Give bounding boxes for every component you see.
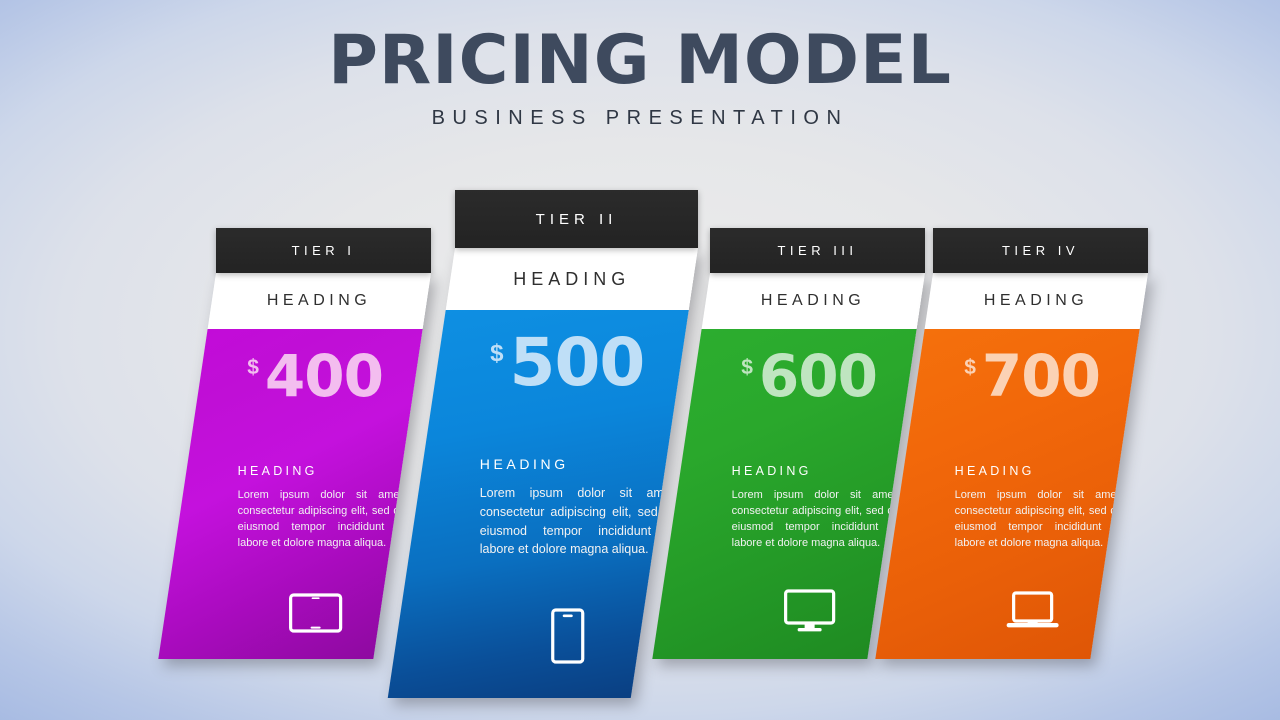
price-amount: 400 (265, 347, 383, 405)
tier-label-bar: TIER I (216, 228, 431, 273)
card-sub-heading: HEADING (732, 464, 900, 478)
tier-label: TIER III (777, 243, 857, 258)
card-heading-label: HEADING (761, 292, 865, 310)
card-sub-heading: HEADING (955, 464, 1123, 478)
card-description: Lorem ipsum dolor sit amet, consectetur … (480, 484, 678, 559)
device-icon-wrap (208, 593, 423, 633)
tablet-icon (288, 593, 342, 633)
pricing-card-tier-4[interactable]: TIER IV HEADING $ 700 HEADING Lorem ipsu… (933, 228, 1148, 659)
pricing-card-list: TIER I HEADING $ 400 HEADING Lorem ipsum… (0, 0, 1280, 720)
currency-symbol: $ (247, 357, 259, 378)
card-heading-bar: HEADING (702, 273, 925, 329)
card-text-block: HEADING Lorem ipsum dolor sit amet, cons… (732, 464, 900, 552)
card-description: Lorem ipsum dolor sit amet, consectetur … (238, 488, 406, 552)
smartphone-icon (550, 608, 584, 664)
card-body-wrapper: HEADING $ 400 HEADING Lorem ipsum dolor … (158, 273, 431, 659)
card-heading-bar: HEADING (208, 273, 431, 329)
price-amount: 500 (510, 330, 645, 396)
currency-symbol: $ (741, 357, 753, 378)
card-heading-label: HEADING (267, 292, 371, 310)
card-body-inner: $ 400 HEADING Lorem ipsum dolor sit amet… (208, 329, 423, 659)
tier-label: TIER IV (1002, 243, 1079, 258)
tier-label-bar: TIER IV (933, 228, 1148, 273)
currency-symbol: $ (964, 357, 976, 378)
price-block: $ 600 (702, 347, 917, 405)
slide-canvas: PRICING MODEL BUSINESS PRESENTATION TIER… (0, 0, 1280, 720)
price-block: $ 400 (208, 347, 423, 405)
currency-symbol: $ (490, 342, 503, 366)
card-text-block: HEADING Lorem ipsum dolor sit amet, cons… (480, 456, 678, 559)
card-heading-label: HEADING (984, 292, 1088, 310)
pricing-card-tier-1[interactable]: TIER I HEADING $ 400 HEADING Lorem ipsum… (216, 228, 431, 659)
card-body-inner: $ 500 HEADING Lorem ipsum dolor sit amet… (446, 310, 689, 698)
price-block: $ 500 (446, 330, 689, 396)
card-sub-heading: HEADING (238, 464, 406, 478)
device-icon-wrap (925, 591, 1140, 633)
card-body: $ 400 HEADING Lorem ipsum dolor sit amet… (158, 329, 422, 659)
card-sub-heading: HEADING (480, 456, 678, 472)
card-text-block: HEADING Lorem ipsum dolor sit amet, cons… (238, 464, 406, 552)
card-heading-bar: HEADING (925, 273, 1148, 329)
monitor-icon (783, 589, 835, 633)
tier-label: TIER II (536, 211, 618, 228)
tier-label-bar: TIER II (455, 190, 698, 248)
card-body: $ 500 HEADING Lorem ipsum dolor sit amet… (388, 310, 689, 698)
card-text-block: HEADING Lorem ipsum dolor sit amet, cons… (955, 464, 1123, 552)
laptop-icon (1004, 591, 1060, 633)
price-block: $ 700 (925, 347, 1140, 405)
card-body-inner: $ 700 HEADING Lorem ipsum dolor sit amet… (925, 329, 1140, 659)
card-heading-bar: HEADING (446, 248, 698, 310)
price-amount: 700 (982, 347, 1100, 405)
card-body-wrapper: HEADING $ 500 HEADING Lorem ipsum dolor … (388, 248, 698, 698)
tier-label: TIER I (292, 243, 356, 258)
card-description: Lorem ipsum dolor sit amet, consectetur … (732, 488, 900, 552)
price-amount: 600 (759, 347, 877, 405)
card-description: Lorem ipsum dolor sit amet, consectetur … (955, 488, 1123, 552)
card-heading-label: HEADING (513, 269, 630, 290)
tier-label-bar: TIER III (710, 228, 925, 273)
